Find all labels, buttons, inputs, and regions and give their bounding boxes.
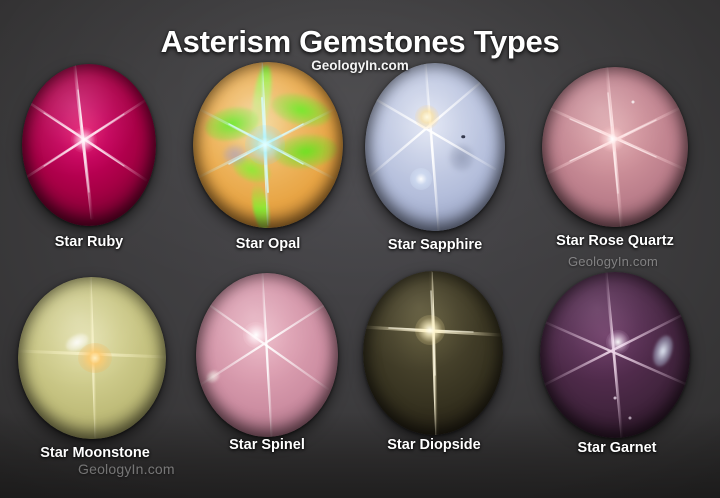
gem-label-star-sapphire: Star Sapphire: [351, 237, 519, 253]
gem-cell-star-spinel: Star Spinel: [196, 273, 338, 437]
gem-image-star-rose-quartz: [542, 67, 688, 227]
gem-image-star-moonstone: [18, 277, 166, 439]
gem-rim-shadow: [18, 277, 166, 439]
gem-rim-shadow: [193, 62, 343, 228]
gem-label-star-spinel: Star Spinel: [182, 437, 352, 453]
gem-image-star-diopside: [363, 271, 503, 435]
gem-cell-star-opal: Star Opal: [193, 62, 343, 228]
gem-cell-star-garnet: Star Garnet: [540, 272, 690, 438]
gemstone-poster: Star Ruby: [0, 0, 720, 498]
gem-image-star-garnet: [540, 272, 690, 438]
gem-cell-star-sapphire: Star Sapphire: [365, 63, 505, 231]
gem-rim-shadow: [363, 271, 503, 435]
page-subtitle: GeologyIn.com: [0, 58, 720, 73]
gem-label-star-diopside: Star Diopside: [349, 437, 519, 453]
gem-rim-shadow: [540, 272, 690, 438]
gem-cell-star-moonstone: Star Moonstone: [18, 277, 166, 439]
gem-rim-shadow: [196, 273, 338, 437]
gem-label-star-opal: Star Opal: [179, 236, 357, 252]
gem-image-star-ruby: [22, 64, 156, 226]
gem-image-star-opal: [193, 62, 343, 228]
gem-rim-shadow: [22, 64, 156, 226]
gem-rim-shadow: [365, 63, 505, 231]
gem-cell-star-ruby: Star Ruby: [22, 64, 156, 226]
gem-cell-star-diopside: Star Diopside: [363, 271, 503, 435]
gem-image-star-spinel: [196, 273, 338, 437]
gem-label-star-garnet: Star Garnet: [532, 440, 702, 456]
gem-label-star-moonstone: Star Moonstone: [12, 445, 178, 461]
watermark-bottom: GeologyIn.com: [78, 461, 175, 477]
page-title: Asterism Gemstones Types: [0, 24, 720, 60]
gem-cell-star-rose-quartz: Star Rose Quartz: [542, 67, 688, 227]
gem-rim-shadow: [542, 67, 688, 227]
gem-label-star-ruby: Star Ruby: [0, 234, 178, 250]
gem-label-star-rose-quartz: Star Rose Quartz: [528, 233, 702, 249]
watermark-right: GeologyIn.com: [568, 254, 658, 269]
gem-image-star-sapphire: [365, 63, 505, 231]
